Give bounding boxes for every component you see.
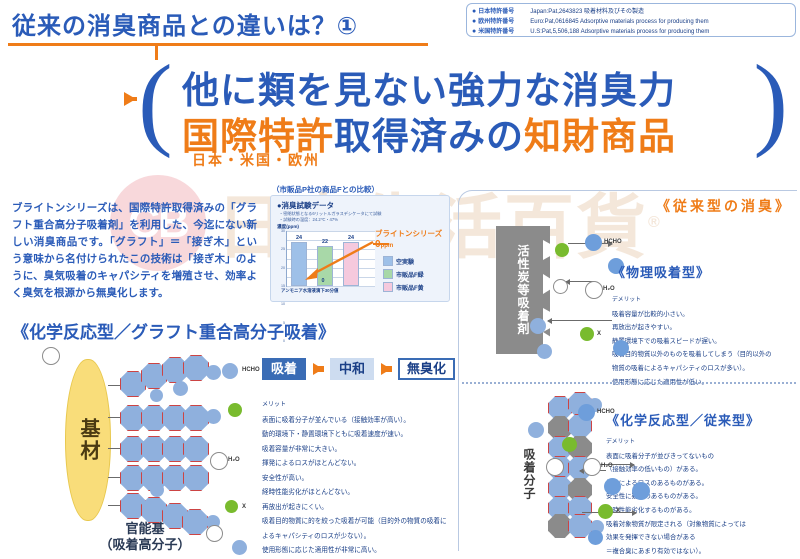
legend-swatch	[383, 256, 393, 266]
chart-bar	[291, 242, 307, 286]
legend-label: 市販品F緑	[396, 270, 424, 279]
patent-row: ● 米国特許番号 U.S:Pat,5,506,188 Adsorptive ma…	[472, 27, 790, 37]
molecule-white-chem	[546, 458, 564, 476]
molecule-blue-trapped-2	[537, 344, 552, 359]
page-kicker: 従来の消臭商品との違いは？①	[12, 6, 358, 41]
chart-note-2: ・試験時の温度：24.2℃・47%	[279, 217, 338, 223]
arrow-icon	[124, 92, 136, 106]
callout-name: ブライトンシリーズ	[375, 228, 447, 239]
activated-carbon-block: 活性炭等吸着剤	[496, 226, 550, 354]
molecule-green-chem	[562, 437, 577, 452]
demerit-item: 吸着目的物質以外のものを吸着してしまう（目的以外の	[612, 348, 792, 362]
merit-item: 動的環境下・静置環境下ともに吸着速度が速い。	[262, 428, 458, 443]
merit-item: 経時性能劣化がほとんどない。	[262, 486, 458, 501]
chart-callout: ブライトンシリーズ 0ppm	[375, 228, 447, 252]
chart-y-tick: 10	[281, 302, 285, 306]
chart-y-tick: 30	[281, 229, 285, 233]
chart-bar-label: 24	[296, 235, 302, 241]
bullet-icon: ●	[472, 17, 476, 27]
molecule-hcho-label-right: HCHO	[604, 239, 622, 245]
title-subline: 日本・米国・欧州	[192, 150, 320, 170]
paren-left: (	[138, 50, 173, 154]
merit-item: 安全性が高い。	[262, 472, 458, 487]
chart-zero-label: 0	[322, 278, 325, 284]
molecule-hcho-dot	[222, 363, 238, 379]
chip-adsorb: 吸着	[262, 358, 306, 380]
molecule-free-chem-2	[632, 482, 650, 500]
patent-label: 欧州特許番号	[478, 17, 530, 27]
activated-carbon-label: 活性炭等吸着剤	[516, 245, 530, 336]
molecule-white-trapped	[553, 279, 568, 294]
legend-swatch	[383, 269, 393, 279]
callout-unit: ppm	[381, 243, 394, 249]
merit-item: 吸着容量が非常に大きい。	[262, 443, 458, 458]
molecule-hcho-dot-chem	[578, 404, 595, 421]
paren-right: )	[753, 50, 788, 154]
merits-heading: メリット	[262, 398, 458, 413]
patent-value: U.S:Pat,5,506,188 Adsorptive materials p…	[530, 27, 709, 37]
demerit-item: 吸着対象物質が限定される（対象物質によっては	[606, 518, 786, 532]
kicker-underline	[8, 43, 428, 46]
legend-label: 空実験	[396, 257, 414, 266]
chemical-demerits-list: デメリット 表面に吸着分子が並びきってないもの（接触効率の低いもの）がある。揮発…	[606, 436, 786, 558]
legend-swatch	[383, 282, 393, 292]
molecule-x-label-right: X	[597, 331, 601, 337]
chemical-conventional-subtitle: 《化学反応型／従来型》	[606, 410, 760, 429]
patent-value: Euro:Pat,0616845 Adsorptive materials pr…	[530, 17, 708, 27]
merit-item: 揮発によるロスがほとんどない。	[262, 457, 458, 472]
title-line-2-c: 知財商品	[524, 116, 676, 157]
molecule-free-chem-3	[588, 530, 603, 545]
infographic-page: CB 日本生活百貨® 従来の消臭商品との違いは？① ● 日本特許番号 Japan…	[0, 0, 800, 554]
molecule-h2o-label-right: H₂O	[603, 286, 615, 292]
demerit-item: 再放出が起きやすい。	[612, 321, 792, 335]
merit-item: 表面に吸着分子が並んでいる（接触効率が高い）。	[262, 414, 458, 429]
patent-box: ● 日本特許番号 Japan:Pat,2643823 吸着材料及びその製造 ● …	[466, 3, 796, 37]
legend-item: 市販品F緑	[383, 269, 424, 279]
patent-label: 米国特許番号	[478, 27, 530, 37]
molecule-hcho-dot-right	[585, 234, 602, 251]
chart-plot-area: 0510152025302422240	[286, 231, 375, 287]
demerit-item: ＝複合臭にあまり有効ではない）。	[606, 545, 786, 559]
functional-group-label-line2: （吸着高分子）	[70, 537, 220, 553]
demerits-heading: デメリット	[612, 294, 792, 308]
patent-row: ● 日本特許番号 Japan:Pat,2643823 吸着材料及びその製造	[472, 7, 790, 17]
merit-item: 再放出が起きにくい。	[262, 501, 458, 516]
physical-demerits-list: デメリット 吸着容量が比較的小さい。再放出が起きやすい。静置環境下での吸着スピー…	[612, 294, 792, 389]
graft-diagram: 基材 官能基 （吸着高分子）	[10, 345, 260, 550]
molecule-h2o-label-chem: H₂O	[601, 463, 613, 469]
molecule-h2o-dot-right	[585, 281, 603, 299]
main-title: ( ) 他に類を見ない強力な消臭力 国際特許取得済みの知財商品	[130, 52, 790, 162]
section-heading-chemical: 《化学反応型／グラフト重合高分子吸着》	[12, 318, 335, 343]
chart-gridline: 0	[287, 286, 375, 287]
chart-x-axis-label: アンモニア水溶液滴下30分値	[281, 288, 338, 294]
bullet-icon: ●	[472, 7, 476, 17]
chart-bar	[343, 242, 359, 286]
demerit-item: 効果を発揮できない場合がある	[606, 531, 786, 545]
chart-bar-label: 22	[322, 239, 328, 245]
conventional-panel-title: 《従来型の消臭》	[656, 196, 792, 216]
chart-bar	[317, 246, 333, 286]
merit-item: 使用形態に応じた適用性が非常に高い。	[262, 544, 458, 559]
bullet-icon: ●	[472, 27, 476, 37]
patent-label: 日本特許番号	[478, 7, 530, 17]
molecule-free-2	[613, 340, 629, 356]
adsorbent-molecule-label: 吸着分子	[522, 448, 536, 500]
molecule-green-trapped	[555, 243, 569, 257]
molecule-x-dot-chem	[598, 504, 613, 519]
molecule-x-label-chem: X	[616, 508, 620, 514]
physical-adsorption-subtitle: 《物理吸着型》	[612, 262, 710, 281]
chart-title: ●消臭試験データ	[277, 200, 334, 211]
chip-deodorize: 無臭化	[398, 358, 455, 380]
chart-caption: （市販品P社の商品Fとの比較）	[272, 184, 379, 195]
substrate-label: 基材	[77, 418, 99, 462]
demerit-item: 静置環境下での吸着スピードが遅い。	[612, 335, 792, 349]
molecule-hcho-label: HCHO	[242, 367, 260, 373]
process-chips: 吸着 中和 無臭化	[262, 358, 455, 380]
merits-list: メリット 表面に吸着分子が並んでいる（接触効率が高い）。動的環境下・静置環境下と…	[262, 398, 458, 559]
molecule-h2o-dot-chem	[583, 458, 601, 476]
lead-paragraph: ブライトンシリーズは、国際特許取得済みの「グラフト重合高分子吸着剤」を利用した、…	[12, 200, 257, 302]
molecule-x-dot-right	[580, 327, 594, 341]
title-line-2-b: 取得済みの	[334, 116, 524, 157]
panel-divider	[462, 382, 796, 384]
arrow-right-icon	[313, 363, 323, 375]
chart-y-tick: 20	[281, 266, 285, 270]
chart-card: ●消臭試験データ ・密閉状態となる6リットルガラスデシケータにて試験 ・試験時の…	[270, 195, 450, 302]
chip-neutralize: 中和	[330, 358, 374, 380]
merit-item: 吸着目的物質に的を絞った吸着が可能（目的外の物質の吸着に	[262, 515, 458, 530]
demerits-heading: デメリット	[606, 436, 786, 450]
chart-legend: 空実験市販品F緑市販品F黄	[383, 256, 424, 295]
arrow-right-icon	[381, 363, 391, 375]
chart-y-tick: 25	[281, 247, 285, 251]
legend-item: 市販品F黄	[383, 282, 424, 292]
molecule-free-chem-1	[604, 478, 621, 495]
substrate-shape: 基材	[65, 359, 111, 521]
molecule-x-label: X	[242, 504, 246, 510]
chart-bar-label: 24	[348, 235, 354, 241]
patent-value: Japan:Pat,2643823 吸着材料及びその製造	[530, 7, 644, 17]
merit-item: よるキャパシティのロスが少ない）。	[262, 530, 458, 545]
molecule-h2o-label: H₂O	[228, 457, 240, 463]
legend-item: 空実験	[383, 256, 424, 266]
demerit-item: 吸着容量が比較的小さい。	[612, 308, 792, 322]
capture-arrow-icon	[548, 320, 612, 321]
legend-label: 市販品F黄	[396, 283, 424, 292]
patent-row: ● 欧州特許番号 Euro:Pat,0616845 Adsorptive mat…	[472, 17, 790, 27]
chart-gridline: 30	[287, 231, 375, 232]
molecule-blue-trapped	[530, 318, 546, 334]
demerit-item: 物質の吸着によるキャパシティのロスが多い）。	[612, 362, 792, 376]
